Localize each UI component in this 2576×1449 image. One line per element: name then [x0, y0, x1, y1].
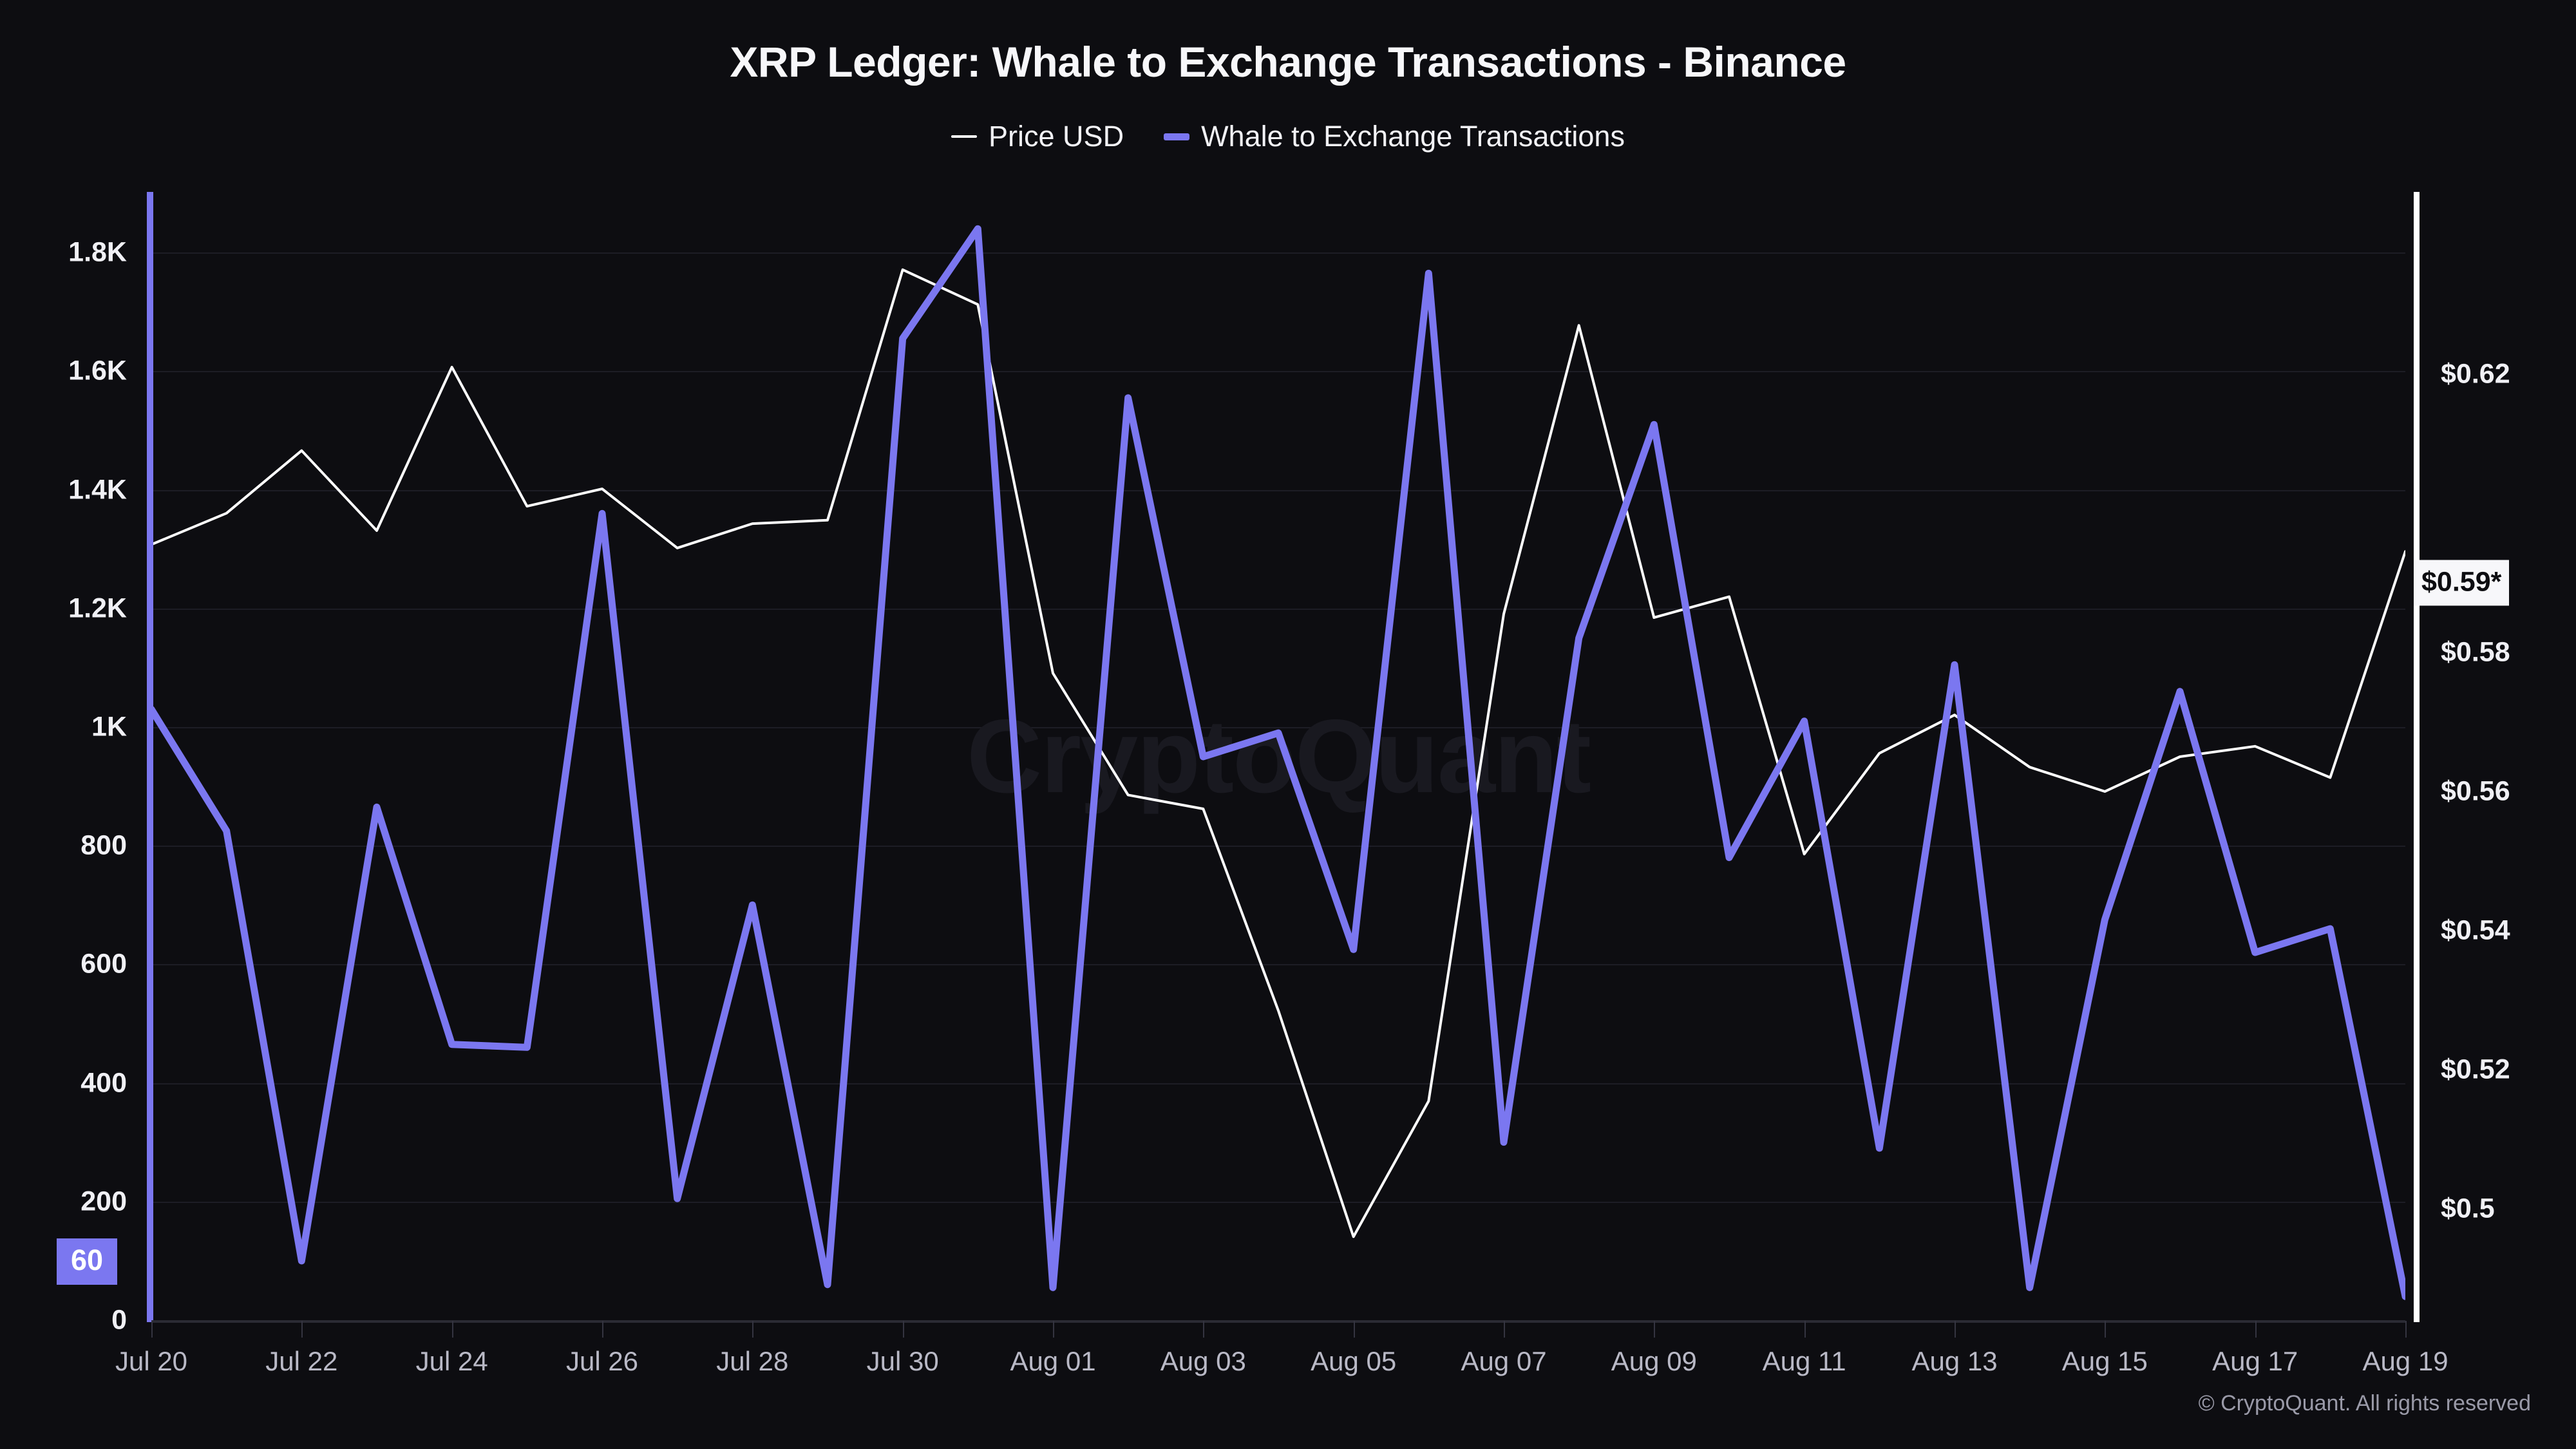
- x-axis-tick-label: Jul 30: [867, 1346, 939, 1377]
- x-axis-tick-mark: [1804, 1321, 1806, 1338]
- x-axis-tick-label: Aug 09: [1611, 1346, 1697, 1377]
- x-axis-tick-label: Aug 03: [1160, 1346, 1246, 1377]
- x-axis-tick-mark: [1654, 1321, 1655, 1338]
- x-axis-tick-label: Aug 13: [1911, 1346, 1997, 1377]
- x-axis-tick-label: Aug 07: [1461, 1346, 1546, 1377]
- x-axis-tick-mark: [2105, 1321, 2106, 1338]
- x-axis-tick-mark: [452, 1321, 453, 1338]
- x-axis-tick-label: Aug 17: [2212, 1346, 2298, 1377]
- footer-credit: © CryptoQuant. All rights reserved: [2199, 1391, 2531, 1416]
- x-axis-tick-label: Aug 15: [2062, 1346, 2148, 1377]
- x-axis-ticks: Jul 20Jul 22Jul 24Jul 26Jul 28Jul 30Aug …: [0, 0, 2576, 1449]
- x-axis-tick-mark: [602, 1321, 603, 1338]
- x-axis-tick-label: Jul 28: [716, 1346, 788, 1377]
- x-axis-tick-mark: [301, 1321, 303, 1338]
- x-axis-tick-label: Jul 24: [416, 1346, 488, 1377]
- x-axis-tick-mark: [903, 1321, 904, 1338]
- x-axis-tick-mark: [2405, 1321, 2407, 1338]
- x-axis-tick-label: Jul 22: [265, 1346, 337, 1377]
- x-axis-tick-mark: [1504, 1321, 1505, 1338]
- x-axis-tick-mark: [752, 1321, 753, 1338]
- x-axis-tick-label: Aug 01: [1010, 1346, 1095, 1377]
- x-axis-tick-mark: [1203, 1321, 1204, 1338]
- x-axis-tick-label: Aug 05: [1311, 1346, 1396, 1377]
- x-axis-tick-mark: [151, 1321, 153, 1338]
- x-axis-tick-mark: [1354, 1321, 1355, 1338]
- x-axis-tick-label: Aug 11: [1763, 1346, 1846, 1377]
- x-axis-tick-label: Aug 19: [2362, 1346, 2448, 1377]
- x-axis-tick-mark: [1053, 1321, 1054, 1338]
- x-axis-tick-mark: [2255, 1321, 2257, 1338]
- x-axis-tick-label: Jul 20: [115, 1346, 187, 1377]
- x-axis-tick-mark: [1955, 1321, 1956, 1338]
- x-axis-tick-label: Jul 26: [566, 1346, 638, 1377]
